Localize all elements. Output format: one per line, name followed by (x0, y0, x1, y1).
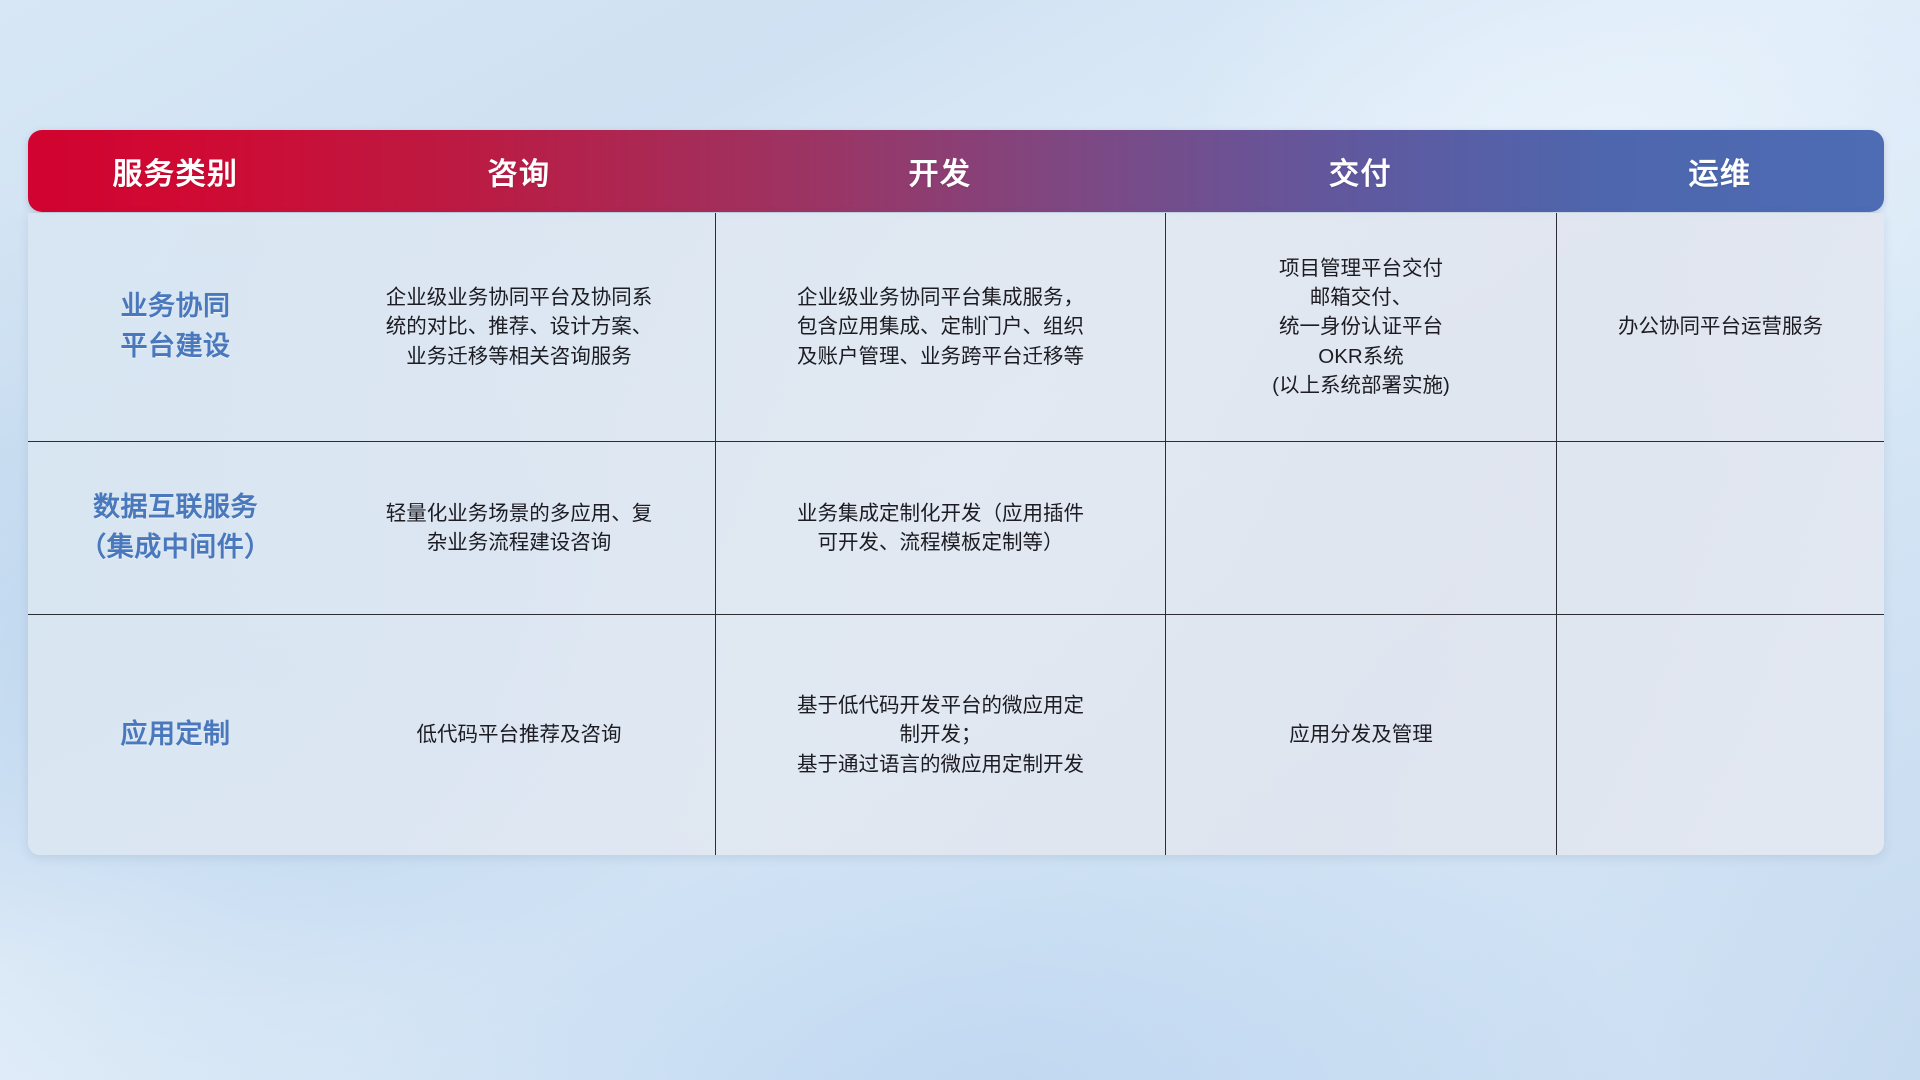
cell-development: 基于低代码开发平台的微应用定 制开发； 基于通过语言的微应用定制开发 (715, 615, 1165, 855)
table-header-row: 服务类别 咨询 开发 交付 运维 (28, 130, 1884, 212)
cell-delivery (1165, 442, 1556, 614)
table-body: 业务协同 平台建设 企业级业务协同平台及协同系 统的对比、推荐、设计方案、 业务… (28, 213, 1884, 855)
cell-consulting: 轻量化业务场景的多应用、复 杂业务流程建设咨询 (323, 442, 715, 614)
column-header-operations: 运维 (1556, 130, 1884, 212)
service-matrix-table: 服务类别 咨询 开发 交付 运维 业务协同 平台建设 企业级业务协同平台及协同系… (28, 130, 1884, 855)
table-row: 业务协同 平台建设 企业级业务协同平台及协同系 统的对比、推荐、设计方案、 业务… (28, 213, 1884, 441)
table-row: 应用定制 低代码平台推荐及咨询 基于低代码开发平台的微应用定 制开发； 基于通过… (28, 614, 1884, 855)
column-header-development: 开发 (715, 130, 1165, 212)
cell-delivery: 项目管理平台交付 邮箱交付、 统一身份认证平台 OKR系统 (以上系统部署实施) (1165, 213, 1556, 441)
row-label-cell: 应用定制 (28, 615, 323, 855)
row-label-text: 应用定制 (121, 715, 231, 755)
row-label-text: 业务协同 平台建设 (121, 287, 231, 367)
cell-operations (1556, 442, 1884, 614)
cell-consulting: 企业级业务协同平台及协同系 统的对比、推荐、设计方案、 业务迁移等相关咨询服务 (323, 213, 715, 441)
row-label-text: 数据互联服务 （集成中间件） (79, 488, 272, 568)
cell-operations: 办公协同平台运营服务 (1556, 213, 1884, 441)
cell-development: 企业级业务协同平台集成服务， 包含应用集成、定制门户、组织 及账户管理、业务跨平… (715, 213, 1165, 441)
row-label-cell: 业务协同 平台建设 (28, 213, 323, 441)
cell-delivery: 应用分发及管理 (1165, 615, 1556, 855)
row-label-cell: 数据互联服务 （集成中间件） (28, 442, 323, 614)
page-canvas: 服务类别 咨询 开发 交付 运维 业务协同 平台建设 企业级业务协同平台及协同系… (0, 0, 1920, 1080)
column-header-category: 服务类别 (28, 130, 323, 212)
column-header-delivery: 交付 (1165, 130, 1556, 212)
cell-operations (1556, 615, 1884, 855)
table-row: 数据互联服务 （集成中间件） 轻量化业务场景的多应用、复 杂业务流程建设咨询 业… (28, 441, 1884, 614)
column-header-consulting: 咨询 (323, 130, 715, 212)
cell-consulting: 低代码平台推荐及咨询 (323, 615, 715, 855)
cell-development: 业务集成定制化开发（应用插件 可开发、流程模板定制等） (715, 442, 1165, 614)
